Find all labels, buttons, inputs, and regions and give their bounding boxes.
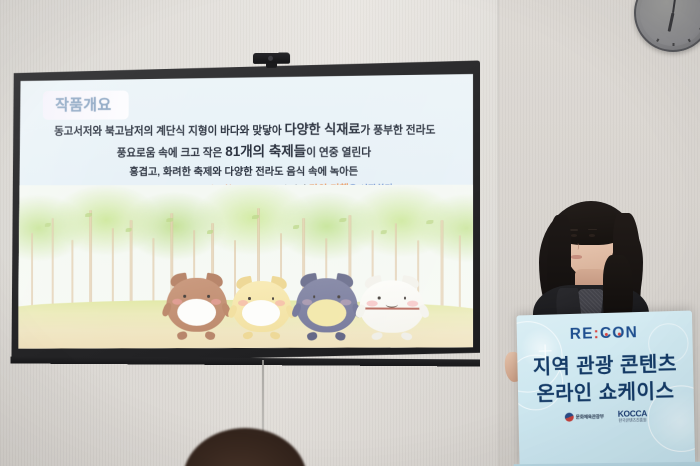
ministry-mark-icon: [564, 413, 573, 422]
clock-hour-hand: [668, 13, 674, 32]
slide-illustration: [18, 185, 473, 351]
character-cream-cat: [232, 278, 291, 338]
recon-pre: RE: [570, 325, 594, 343]
slide-line-2-c: 이 연중 열린다: [306, 147, 371, 159]
podium-sign: RE:CON 지역 관광 콘텐츠 온라인 쇼케이스 문화체육관광부 KOCCA …: [516, 310, 695, 466]
cat-characters: [18, 233, 473, 340]
slide-line-1-c: 가 풍부한 전라도: [360, 125, 435, 137]
presenter-mouth: [571, 255, 582, 259]
presenter-nose: [575, 243, 579, 250]
presenter-eye-right: [589, 234, 595, 237]
character-navy-cat: [296, 275, 358, 339]
webcam-lens: [268, 56, 273, 61]
ministry-logo: 문화체육관광부: [564, 412, 604, 422]
podium-line-2: 온라인 쇼케이스: [518, 374, 694, 407]
presenter-eye-left: [571, 234, 577, 237]
presentation-slide: 작품개요 동고서저와 북고남저의 계단식 지형이 바다와 맞닿아 다양한 식재료…: [18, 74, 473, 351]
clock-minute-hand: [672, 0, 678, 13]
recon-target-o: O: [612, 324, 626, 342]
slide-title: 작품개요: [55, 96, 111, 113]
slide-line-1-a: 동고서저와 북고남저의 계단식 지형이 바다와 맞닿아: [54, 125, 284, 138]
slide-line-2: 풍요로움 속에 크고 작은 81개의 축제들이 연중 열린다: [18, 145, 473, 160]
slide-line-1: 동고서저와 북고남저의 계단식 지형이 바다와 맞닿아 다양한 식재료가 풍부한…: [18, 122, 473, 137]
slide-line-2-emphasis: 81개의 축제들: [225, 144, 306, 159]
slide-title-badge: 작품개요: [42, 90, 128, 119]
room-scene: 작품개요 동고서저와 북고남저의 계단식 지형이 바다와 맞닿아 다양한 식재료…: [0, 0, 700, 466]
character-brown-cat: [166, 275, 227, 338]
recon-post-n: N: [625, 324, 638, 341]
slide-line-1-emphasis: 다양한 식재료: [285, 122, 361, 137]
webcam-icon: [253, 53, 290, 64]
slide-line-3: 흥겹고, 화려한 축제와 다양한 전라도 음식 속에 녹아든: [18, 167, 473, 178]
character-white-cat: [360, 278, 425, 340]
wall-seam: [497, 0, 499, 466]
clock-face: [640, 0, 700, 46]
slide-line-2-a: 풍요로움 속에 크고 작은: [117, 148, 225, 160]
wall-mounted-display[interactable]: 작품개요 동고서저와 북고남저의 계단식 지형이 바다와 맞닿아 다양한 식재료…: [11, 60, 481, 366]
ministry-logo-text: 문화체육관광부: [576, 414, 604, 421]
tv-screen[interactable]: 작품개요 동고서저와 북고남저의 계단식 지형이 바다와 맞닿아 다양한 식재료…: [18, 74, 473, 351]
kocca-logo-sub: 한국콘텐츠진흥원: [618, 418, 647, 423]
recon-post-c: C: [600, 325, 613, 343]
podium-board: RE:CON 지역 관광 콘텐츠 온라인 쇼케이스 문화체육관광부 KOCCA …: [516, 310, 695, 466]
kocca-logo: KOCCA 한국콘텐츠진흥원: [618, 409, 648, 423]
